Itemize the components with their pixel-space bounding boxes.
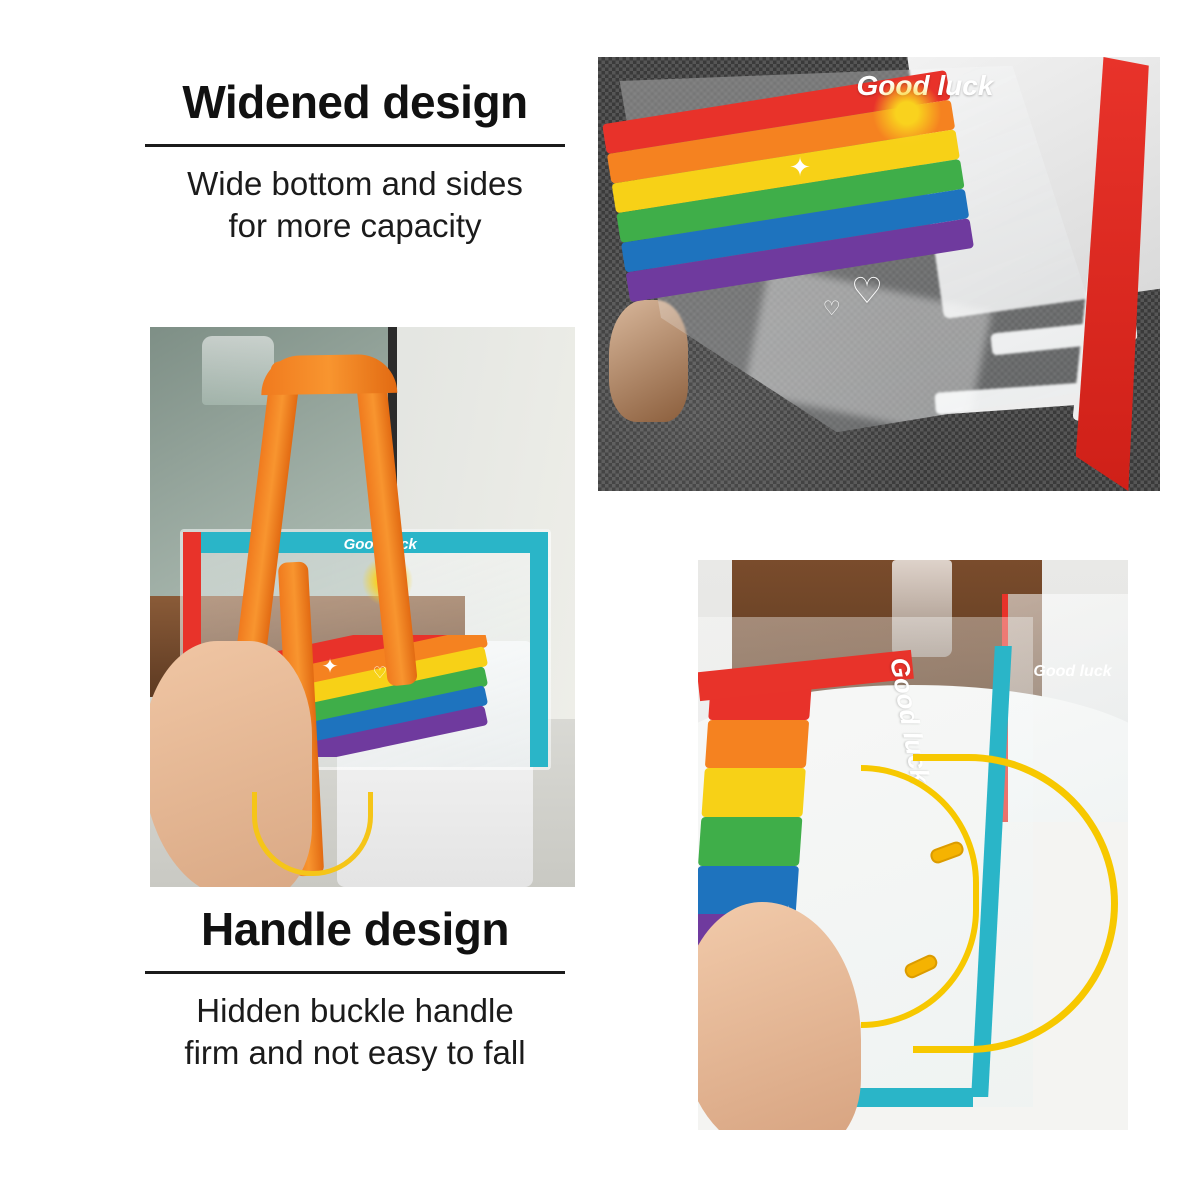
heart-icon: ♡: [851, 270, 883, 312]
feature-subtitle-handle-line2: firm and not easy to fall: [130, 1032, 580, 1073]
orange-strap-top: [260, 354, 397, 396]
feature-block-handle-design: Handle design Hidden buckle handle firm …: [130, 905, 580, 1073]
printed-brand-text-secondary: Good luck: [1033, 663, 1111, 681]
cyan-side-trim: [530, 532, 548, 767]
photo-handle-held-bag: ✦ ♡ Good luck: [150, 327, 575, 887]
divider-rule-handle: [145, 971, 565, 974]
feature-title-handle-design: Handle design: [130, 905, 580, 953]
photo-wide-bottom-gusset: Good luck ✦ ♡ ♡: [598, 57, 1160, 491]
sparkle-icon: ✦: [322, 654, 339, 679]
sparkle-icon: ✦: [789, 152, 811, 183]
feature-block-widened-design: Widened design Wide bottom and sides for…: [130, 78, 580, 246]
product-feature-collage: Widened design Wide bottom and sides for…: [0, 0, 1200, 1200]
divider-rule-widened: [145, 144, 565, 147]
feature-subtitle-widened-line2: for more capacity: [130, 205, 580, 246]
feature-title-widened-design: Widened design: [130, 78, 580, 126]
heart-icon: ♡: [823, 296, 841, 321]
photo-hidden-buckle-handle: Good luck Good luck ✦: [698, 560, 1128, 1130]
feature-subtitle-handle-line1: Hidden buckle handle: [130, 990, 580, 1031]
feature-subtitle-widened-line1: Wide bottom and sides: [130, 163, 580, 204]
